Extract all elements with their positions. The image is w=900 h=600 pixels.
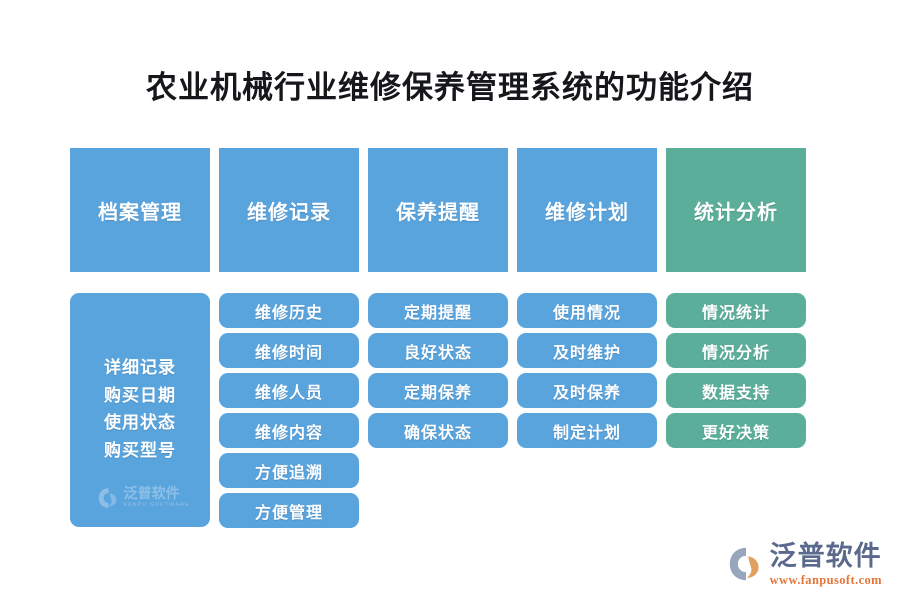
feature-pill[interactable]: 情况统计 — [666, 293, 806, 328]
feature-pill-label: 确保状态 — [404, 419, 472, 443]
category-header-0[interactable]: 档案管理 — [70, 148, 210, 272]
feature-pill-label: 更好决策 — [702, 419, 770, 443]
feature-pill-label: 定期保养 — [404, 379, 472, 403]
feature-pill[interactable]: 维修历史 — [219, 293, 359, 328]
feature-pill[interactable]: 维修内容 — [219, 413, 359, 448]
category-header-4[interactable]: 统计分析 — [666, 148, 806, 272]
feature-pill-label: 方便追溯 — [255, 459, 323, 483]
slide-canvas: 农业机械行业维修保养管理系统的功能介绍 档案管理 维修记录 保养提醒 维修计划 … — [0, 0, 900, 600]
detail-panel-line: 使用状态 — [104, 411, 176, 437]
feature-pill[interactable]: 及时维护 — [517, 333, 657, 368]
watermark-name-cn: 泛普软件 — [124, 487, 190, 501]
brand-name: 泛普软件 — [770, 543, 882, 570]
watermark: 泛普软件 FANPU SOFTWARE — [98, 487, 190, 509]
category-header-1[interactable]: 维修记录 — [219, 148, 359, 272]
feature-pill[interactable]: 数据支持 — [666, 373, 806, 408]
feature-pill-label: 方便管理 — [255, 499, 323, 523]
detail-panel-lines: 详细记录 购买日期 使用状态 购买型号 — [104, 356, 176, 464]
feature-pill[interactable]: 定期提醒 — [368, 293, 508, 328]
watermark-name-en: FANPU SOFTWARE — [124, 503, 190, 509]
feature-pill[interactable]: 及时保养 — [517, 373, 657, 408]
feature-pill[interactable]: 方便管理 — [219, 493, 359, 528]
category-header-row: 档案管理 维修记录 保养提醒 维修计划 统计分析 — [70, 148, 806, 272]
brand-url: www.fanpusoft.com — [770, 574, 882, 587]
feature-pill-label: 维修时间 — [255, 339, 323, 363]
detail-panel[interactable]: 详细记录 购买日期 使用状态 购买型号 泛普软件 FANPU SOFTWARE — [70, 293, 210, 527]
category-header-label: 统计分析 — [694, 196, 778, 225]
category-header-label: 保养提醒 — [396, 196, 480, 225]
feature-pill[interactable]: 制定计划 — [517, 413, 657, 448]
feature-pill-label: 维修历史 — [255, 299, 323, 323]
feature-pill-label: 维修内容 — [255, 419, 323, 443]
feature-pill-label: 维修人员 — [255, 379, 323, 403]
category-header-label: 维修记录 — [247, 196, 331, 225]
feature-pill-label: 及时保养 — [553, 379, 621, 403]
category-header-3[interactable]: 维修计划 — [517, 148, 657, 272]
category-header-label: 维修计划 — [545, 196, 629, 225]
feature-pill-label: 使用情况 — [553, 299, 621, 323]
feature-pill[interactable]: 使用情况 — [517, 293, 657, 328]
content-column-0: 详细记录 购买日期 使用状态 购买型号 泛普软件 FANPU SOFTWARE — [70, 293, 210, 527]
category-content-row: 详细记录 购买日期 使用状态 购买型号 泛普软件 FANPU SOFTWARE — [70, 293, 806, 527]
category-header-2[interactable]: 保养提醒 — [368, 148, 508, 272]
content-column-2: 定期提醒 良好状态 定期保养 确保状态 — [368, 293, 508, 527]
feature-pill-label: 良好状态 — [404, 339, 472, 363]
feature-pill-label: 定期提醒 — [404, 299, 472, 323]
feature-pill[interactable]: 维修时间 — [219, 333, 359, 368]
feature-pill[interactable]: 方便追溯 — [219, 453, 359, 488]
feature-pill-label: 情况统计 — [702, 299, 770, 323]
feature-pill[interactable]: 定期保养 — [368, 373, 508, 408]
watermark-text: 泛普软件 FANPU SOFTWARE — [124, 487, 190, 509]
feature-pill[interactable]: 良好状态 — [368, 333, 508, 368]
feature-pill[interactable]: 维修人员 — [219, 373, 359, 408]
feature-pill[interactable]: 确保状态 — [368, 413, 508, 448]
fanpu-logo-icon — [98, 487, 120, 509]
content-column-3: 使用情况 及时维护 及时保养 制定计划 — [517, 293, 657, 527]
feature-pill-label: 数据支持 — [702, 379, 770, 403]
feature-pill[interactable]: 更好决策 — [666, 413, 806, 448]
detail-panel-line: 详细记录 — [104, 356, 176, 382]
feature-pill-label: 情况分析 — [702, 339, 770, 363]
content-column-1: 维修历史 维修时间 维修人员 维修内容 方便追溯 方便管理 — [219, 293, 359, 527]
page-title: 农业机械行业维修保养管理系统的功能介绍 — [0, 62, 900, 107]
detail-panel-line: 购买日期 — [104, 384, 176, 410]
feature-pill-label: 及时维护 — [553, 339, 621, 363]
fanpu-logo-icon — [728, 546, 764, 582]
detail-panel-line: 购买型号 — [104, 439, 176, 465]
brand-logo: 泛普软件 www.fanpusoft.com — [728, 543, 882, 587]
feature-pill[interactable]: 情况分析 — [666, 333, 806, 368]
brand-text: 泛普软件 www.fanpusoft.com — [770, 543, 882, 587]
content-column-4: 情况统计 情况分析 数据支持 更好决策 — [666, 293, 806, 527]
feature-pill-label: 制定计划 — [553, 419, 621, 443]
category-header-label: 档案管理 — [98, 196, 182, 225]
